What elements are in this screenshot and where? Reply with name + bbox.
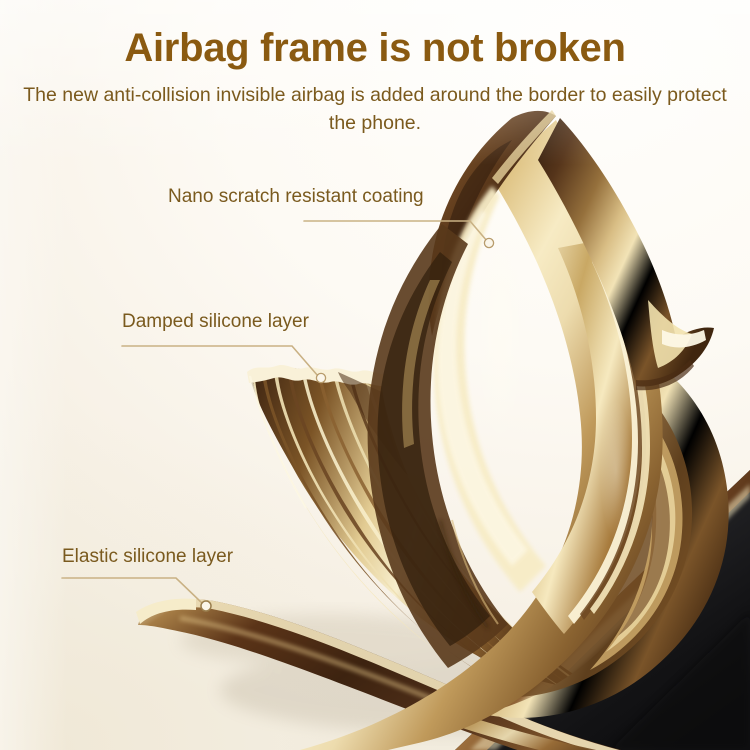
marker-nano <box>484 238 493 247</box>
callout-label-nano-coating: Nano scratch resistant coating <box>168 186 424 209</box>
product-infographic: Airbag frame is not broken The new anti-… <box>0 0 750 750</box>
page-subtitle: The new anti-collision invisible airbag … <box>14 82 736 137</box>
callout-label-damped-silicone: Damped silicone layer <box>122 311 309 334</box>
marker-damped <box>316 373 325 382</box>
marker-elastic <box>201 601 211 611</box>
page-title: Airbag frame is not broken <box>0 26 750 71</box>
callout-label-elastic-silicone: Elastic silicone layer <box>62 546 233 569</box>
subtitle-line-1: The new anti-collision invisible airbag … <box>23 84 661 106</box>
